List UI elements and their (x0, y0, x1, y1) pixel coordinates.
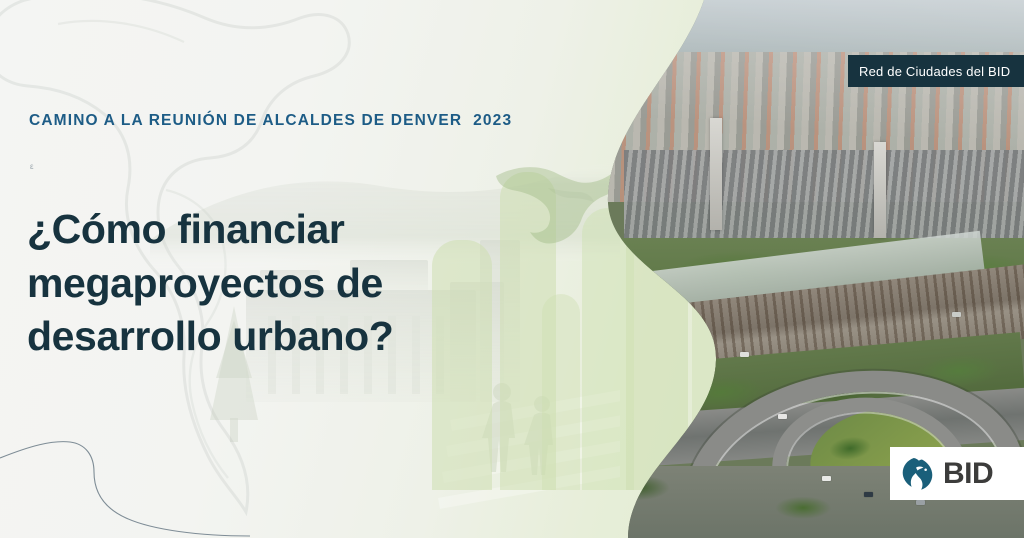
bid-americas-icon (899, 455, 936, 492)
tiny-mark-artifact: ε (30, 163, 34, 171)
banner-root: CAMINO A LA REUNIÓN DE ALCALDES DE DENVE… (0, 0, 1024, 538)
eyebrow-text: CAMINO A LA REUNIÓN DE ALCALDES DE DENVE… (29, 112, 512, 130)
bid-logo-text: BID (943, 459, 993, 489)
network-badge: Red de Ciudades del BID (848, 55, 1024, 87)
network-badge-label: Red de Ciudades del BID (859, 64, 1010, 79)
page-title: ¿Cómo financiar megaproyectos de desarro… (27, 203, 497, 363)
bid-logo: BID (890, 447, 1024, 500)
